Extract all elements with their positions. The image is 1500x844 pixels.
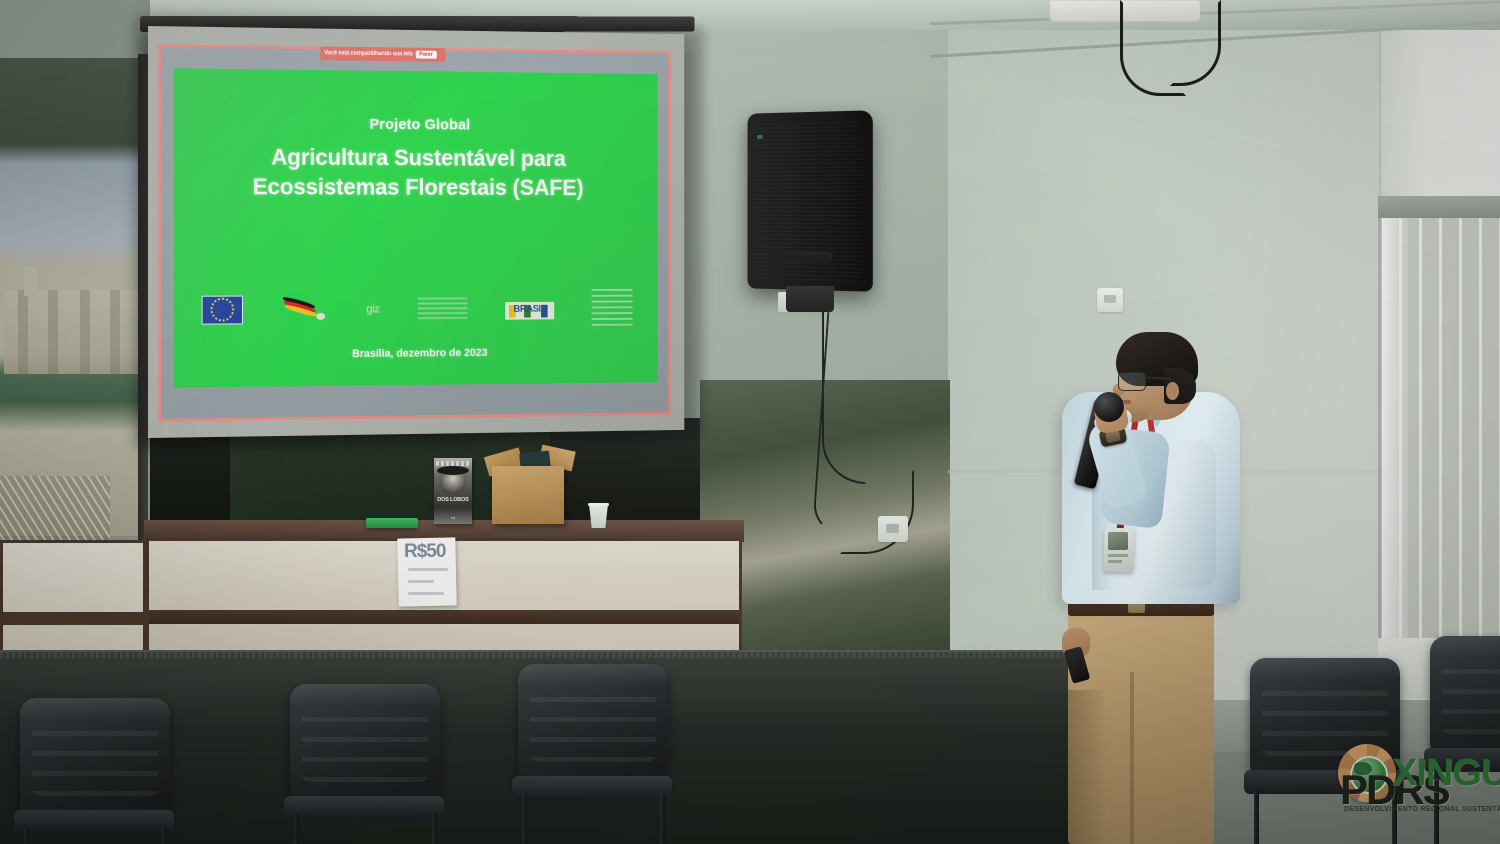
projection-screen: Você está compartilhando sua tela Parar … [148, 26, 684, 438]
slide-pretitle: Projeto Global [174, 114, 658, 135]
giz-logo: giz [366, 302, 379, 316]
table-stripe [149, 610, 739, 624]
book-portrait-hat [437, 466, 469, 475]
cup-rim [588, 503, 609, 506]
sign-note-line-1 [408, 568, 448, 571]
green-folder[interactable] [366, 518, 418, 528]
eu-flag-logo [202, 295, 243, 324]
brasil-logo: BRASIL [505, 296, 554, 320]
badge-text-line-2 [1108, 560, 1122, 563]
glasses-icon [1118, 372, 1146, 391]
window-header [1378, 196, 1500, 218]
plastic-cup[interactable] [589, 504, 608, 528]
cardboard-box[interactable] [492, 466, 564, 524]
presenter-ear [1166, 382, 1179, 400]
wall-outlet-socket [1104, 295, 1116, 303]
screen-share-banner: Você está compartilhando sua tela Parar [320, 46, 445, 61]
presentation-room-photo: Você está compartilhando sua tela Parar … [0, 0, 1500, 844]
sign-note-line-2 [408, 580, 434, 583]
window-daylight-glow [1382, 218, 1408, 638]
watermark-word: XINGU [1392, 752, 1500, 795]
germany-ribbon-logo [282, 296, 327, 322]
presentation-slide: Projeto Global Agricultura Sustentável p… [174, 68, 658, 387]
left-cabinet [0, 540, 146, 660]
presenter-pants-shadow [1068, 690, 1108, 844]
microphone-head[interactable] [1094, 392, 1124, 422]
slide-logo-row: giz BRASIL [202, 284, 633, 334]
left-cabinet-stripe [3, 612, 143, 625]
dam-photo-mural [0, 58, 142, 536]
price-text: R$50 [404, 541, 452, 563]
wall-outlet-2-socket [886, 524, 899, 533]
book-title-text: DOS LOBOS [435, 497, 471, 503]
badge-text-line-1 [1108, 554, 1128, 557]
book-publisher-text: hq [435, 515, 471, 520]
mural-dam-structure [4, 290, 138, 374]
slide-date-line: Brasília, dezembro de 2023 [174, 346, 658, 362]
watermark-subtitle: DESENVOLVIMENTO REGIONAL SUSTENTÁVEL DO … [1344, 806, 1500, 813]
badge-photo [1108, 532, 1128, 550]
speaker-bass-port [782, 252, 833, 263]
stop-sharing-button[interactable]: Parar [415, 51, 436, 59]
governo-federal-logo [592, 289, 633, 326]
slide-title: Agricultura Sustentável para Ecossistema… [199, 142, 635, 203]
mapa-logo [418, 297, 468, 319]
speaker-power-led [757, 135, 763, 139]
pa-speaker [748, 110, 873, 291]
share-banner-label: Você está compartilhando sua tela [324, 50, 412, 57]
mural-tower [24, 266, 38, 296]
presenter-pants-seam [1130, 672, 1134, 844]
sign-note-line-3 [408, 592, 444, 595]
